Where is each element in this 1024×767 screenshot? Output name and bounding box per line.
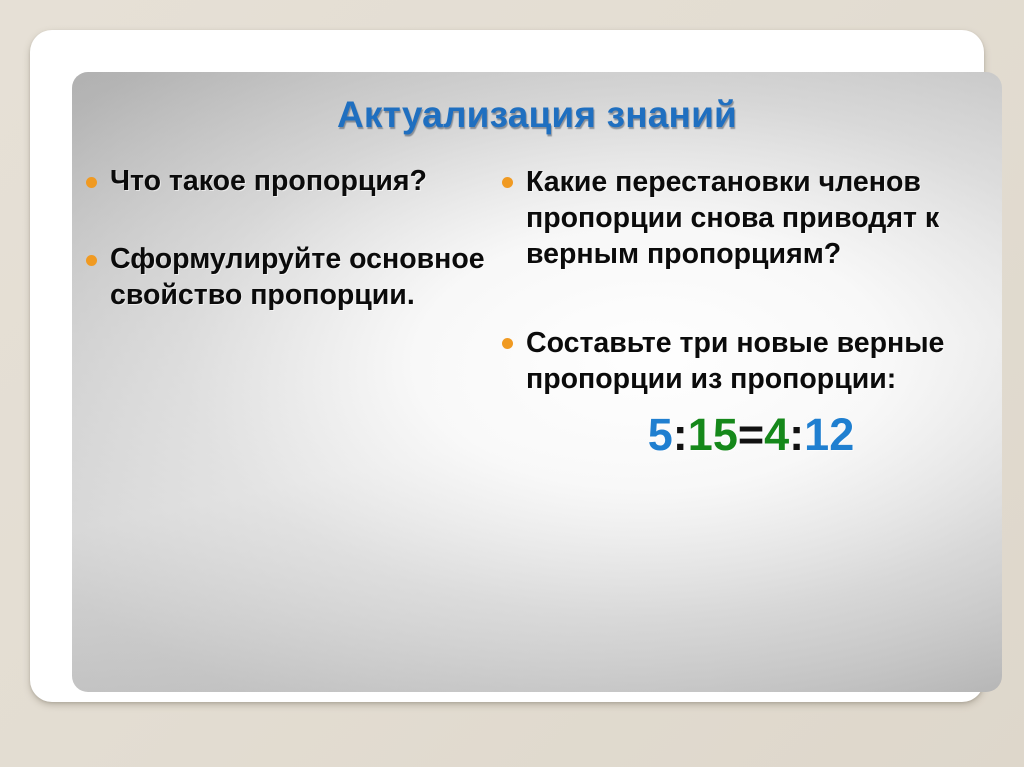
slide-body-columns: Что такое пропорция? Сформулируйте основ… xyxy=(72,164,1002,692)
left-bullet-1-text: Что такое пропорция? xyxy=(110,164,496,200)
right-bullet-2-text: Составьте три новые верные пропорции из … xyxy=(526,327,944,395)
formula-part-3: = xyxy=(738,409,764,460)
left-bullet-1: Что такое пропорция? xyxy=(86,164,496,200)
right-bullet-1-text: Какие перестановки членов пропорции снов… xyxy=(526,164,994,273)
left-bullet-2: Сформулируйте основное свойство пропорци… xyxy=(86,242,496,314)
slide-background: Актуализация знаний Что такое пропорция?… xyxy=(0,0,1024,767)
formula-part-2: 15 xyxy=(688,409,738,460)
bullet-dot-icon xyxy=(502,177,513,188)
slide-title: Актуализация знаний xyxy=(72,94,1002,136)
bullet-dot-icon xyxy=(86,255,97,266)
right-bullet-1: Какие перестановки членов пропорции снов… xyxy=(502,164,994,273)
bullet-dot-icon xyxy=(86,177,97,188)
slide-card-frame: Актуализация знаний Что такое пропорция?… xyxy=(30,30,984,702)
formula-part-6: 12 xyxy=(804,409,854,460)
left-column: Что такое пропорция? Сформулируйте основ… xyxy=(72,164,502,314)
formula-part-1: : xyxy=(673,409,688,460)
slide-content-panel: Актуализация знаний Что такое пропорция?… xyxy=(72,72,1002,692)
formula-part-0: 5 xyxy=(648,409,673,460)
bullet-dot-icon xyxy=(502,338,513,349)
right-column: Какие перестановки членов пропорции снов… xyxy=(502,164,1002,461)
right-bullet-2: Составьте три новые верные пропорции из … xyxy=(502,325,994,461)
formula-part-5: : xyxy=(789,409,804,460)
formula-part-4: 4 xyxy=(764,409,789,460)
left-bullet-2-text: Сформулируйте основное свойство пропорци… xyxy=(110,242,496,314)
proportion-formula: 5:15=4:12 xyxy=(526,409,994,461)
